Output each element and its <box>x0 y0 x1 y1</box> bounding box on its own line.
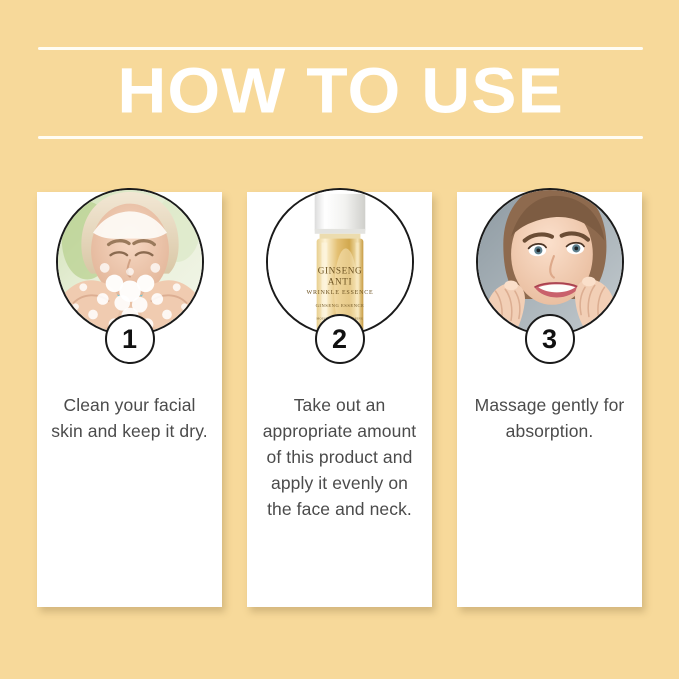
header-rule-bottom <box>38 136 643 139</box>
step-card-1[interactable]: 1 Clean your facial skin and keep it dry… <box>37 192 222 607</box>
step-number-badge-3: 3 <box>525 314 575 364</box>
step-number-badge-2: 2 <box>315 314 365 364</box>
step-description-2: Take out an appropriate amount of this p… <box>257 392 422 522</box>
header: HOW TO USE <box>38 47 643 139</box>
svg-text:WRINKLE ESSENCE: WRINKLE ESSENCE <box>306 290 373 296</box>
header-rule-top <box>38 47 643 50</box>
steps-row: 1 Clean your facial skin and keep it dry… <box>37 192 642 607</box>
step-card-2[interactable]: GINSENG ANTI WRINKLE ESSENCE GINSENG ESS… <box>247 192 432 607</box>
step-number-badge-1: 1 <box>105 314 155 364</box>
step-description-1: Clean your facial skin and keep it dry. <box>47 392 212 444</box>
svg-text:GINSENG: GINSENG <box>317 266 362 276</box>
svg-text:ANTI: ANTI <box>327 276 351 286</box>
step-description-3: Massage gently for absorption. <box>467 392 632 444</box>
svg-text:GINSENG ESSENCE: GINSENG ESSENCE <box>315 303 364 308</box>
step-card-3[interactable]: 3 Massage gently for absorption. <box>457 192 642 607</box>
page-title: HOW TO USE <box>38 59 643 125</box>
how-to-use-infographic: HOW TO USE <box>0 0 679 679</box>
page-title-text: HOW TO USE <box>117 58 564 124</box>
